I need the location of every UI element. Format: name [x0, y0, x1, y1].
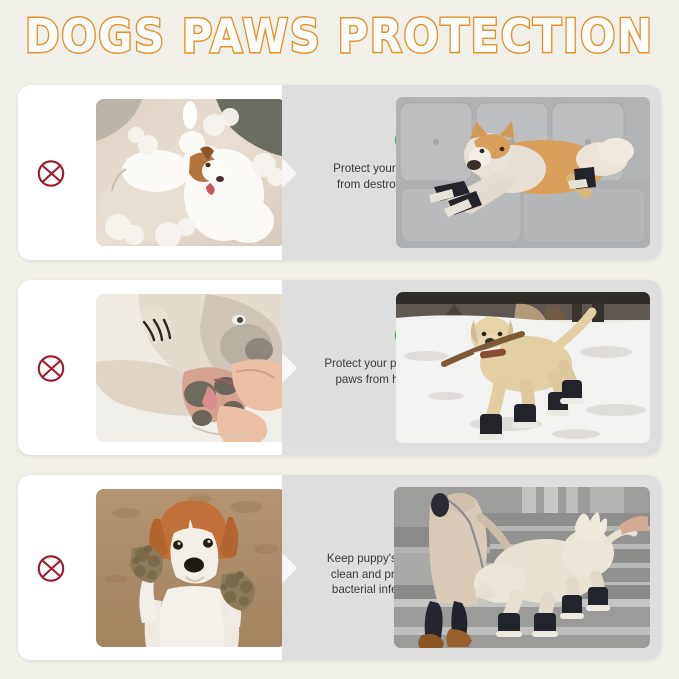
problem-zone	[18, 280, 282, 455]
solution-zone: Keep puppy's paws clean and prevent bact…	[282, 475, 661, 660]
problem-zone	[18, 85, 282, 260]
arrow-right-icon	[282, 553, 297, 583]
circle-x-icon	[34, 156, 68, 190]
page-title-text: DOGS PAWS PROTECTION	[25, 14, 654, 60]
solution-zone: Protect your sofa from destroying	[282, 85, 661, 260]
problem-photo-muddy-paws	[96, 489, 286, 647]
arrow-right-icon	[282, 353, 297, 383]
solution-photo-stairs	[394, 487, 650, 648]
problem-photo-sofa	[96, 99, 286, 246]
circle-x-icon	[34, 351, 68, 385]
panel-clean-paws: Keep puppy's paws clean and prevent bact…	[18, 475, 661, 660]
panel-paws-harm: Protect your puppy's paws from harm	[18, 280, 661, 455]
solution-zone: Protect your puppy's paws from harm	[282, 280, 661, 455]
page-title: DOGS PAWS PROTECTION	[0, 14, 679, 70]
solution-photo-sofa	[396, 97, 650, 248]
solution-photo-snow	[396, 292, 650, 443]
product-infographic: DOGS PAWS PROTECTION	[0, 0, 679, 679]
problem-zone	[18, 475, 282, 660]
circle-x-icon	[34, 551, 68, 585]
arrow-right-icon	[282, 158, 297, 188]
problem-photo-paw	[96, 294, 286, 442]
panel-sofa: Protect your sofa from destroying	[18, 85, 661, 260]
